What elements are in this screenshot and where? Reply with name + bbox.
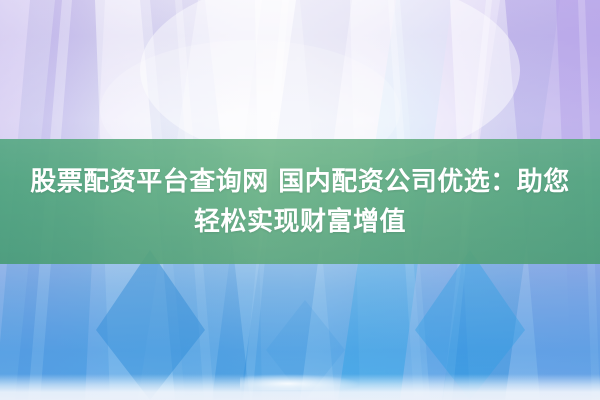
title-banner-band: 股票配资平台查询网 国内配资公司优选：助您轻松实现财富增值: [0, 139, 600, 264]
article-banner: 股票配资平台查询网 国内配资公司优选：助您轻松实现财富增值: [0, 0, 600, 400]
banner-title: 股票配资平台查询网 国内配资公司优选：助您轻松实现财富增值: [20, 162, 580, 242]
